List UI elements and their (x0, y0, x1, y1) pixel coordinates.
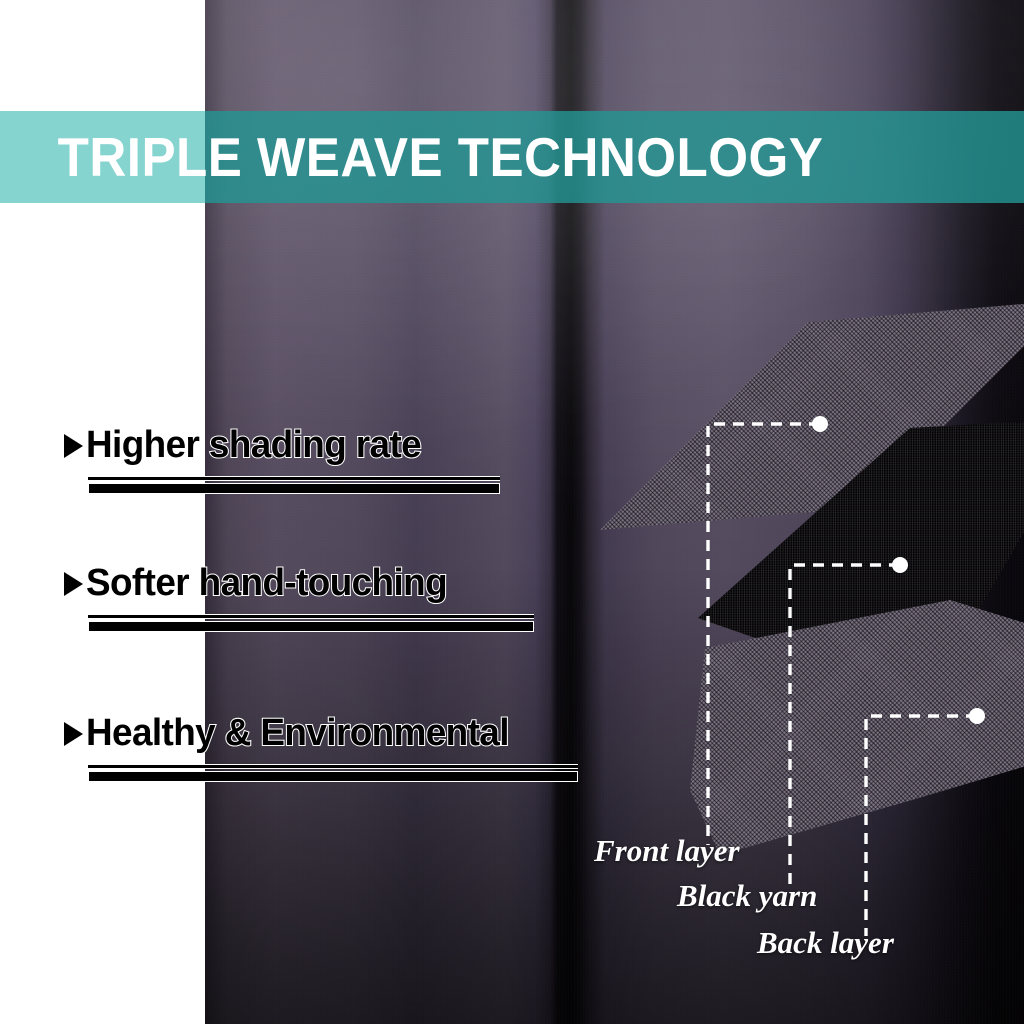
label-black-yarn: Black yarn (677, 878, 817, 914)
triangle-bullet-icon (64, 722, 83, 746)
underline-thick (88, 771, 578, 782)
underline-thin (88, 614, 534, 619)
feature-item-1: Higher shading rate (64, 424, 500, 494)
feature-underline (88, 476, 500, 494)
infographic-canvas: TRIPLE WEAVE TECHNOLOGY Higher shading r… (0, 0, 1024, 1024)
underline-thick (88, 483, 500, 494)
feature-label: Higher shading rate (86, 424, 421, 467)
feature-underline (88, 764, 578, 782)
feature-label: Softer hand-touching (86, 562, 447, 605)
feature-label: Healthy & Environmental (86, 712, 509, 755)
feature-item-2: Softer hand-touching (64, 562, 534, 632)
label-back-layer: Back layer (757, 925, 894, 961)
underline-thin (88, 476, 500, 481)
triangle-bullet-icon (64, 434, 83, 458)
underline-thick (88, 621, 534, 632)
headline-band: TRIPLE WEAVE TECHNOLOGY (0, 111, 1024, 203)
label-front-layer: Front layer (594, 833, 740, 869)
underline-thin (88, 764, 578, 769)
feature-underline (88, 614, 534, 632)
feature-item-3: Healthy & Environmental (64, 712, 578, 782)
triangle-bullet-icon (64, 572, 83, 596)
page-title: TRIPLE WEAVE TECHNOLOGY (0, 111, 952, 203)
